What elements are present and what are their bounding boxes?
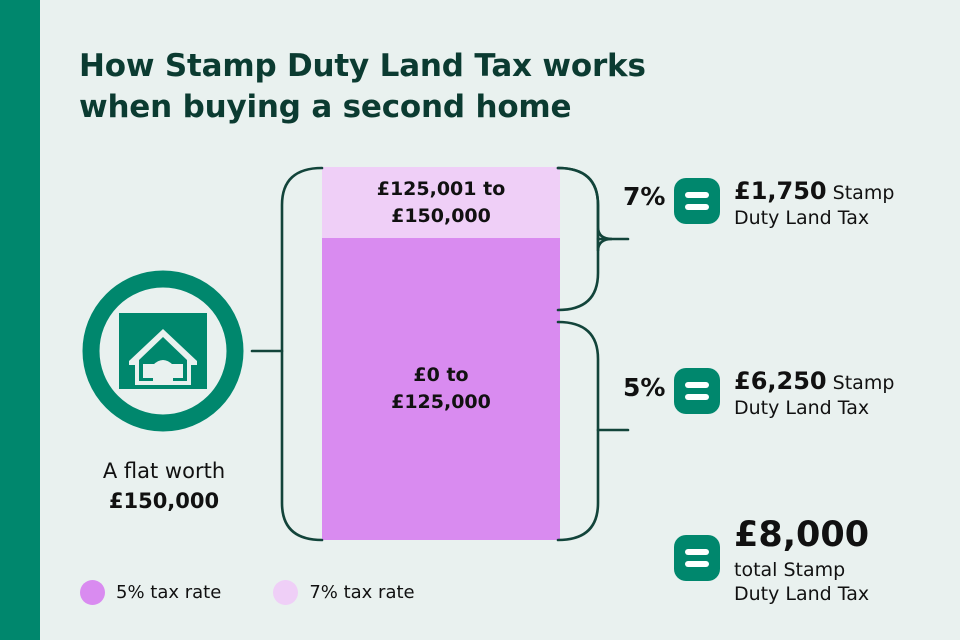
total-tax-amount: £8,000 [734,515,949,555]
equals-bar-top [685,192,709,198]
rate-label-5-percent: 5% [623,373,665,402]
tax-label-upper-line1: Stamp [833,182,895,204]
total-tax-label-line1: total Stamp [734,559,845,581]
tax-band-bar: £125,001 to £150,000 £0 to £125,000 [322,167,560,540]
house-icon [81,269,245,433]
equals-bar-top [685,382,709,388]
property-caption-amount: £150,000 [60,486,268,516]
left-accent-stripe [0,0,40,640]
tax-result-upper: £1,750 Stamp Duty Land Tax [734,179,960,231]
tax-result-lower: £6,250 Stamp Duty Land Tax [734,369,960,421]
equals-icon-lower [674,368,720,414]
equals-bar-bottom [685,561,709,567]
legend-item-7-percent: 7% tax rate [273,580,414,605]
legend-label-7-percent: 7% tax rate [309,582,414,603]
legend: 5% tax rate 7% tax rate [80,580,467,605]
total-tax-label: total Stamp Duty Land Tax [734,558,949,606]
tax-label-upper-line2: Duty Land Tax [734,207,869,229]
property-caption: A flat worth £150,000 [60,456,268,516]
page-title: How Stamp Duty Land Tax works when buyin… [79,46,739,128]
equals-bar-top [685,549,709,555]
legend-swatch-5-percent [80,580,105,605]
tax-amount-upper: £1,750 [734,177,827,205]
equals-bar-bottom [685,204,709,210]
legend-label-5-percent: 5% tax rate [116,582,221,603]
infographic-canvas: How Stamp Duty Land Tax works when buyin… [0,0,960,640]
rate-label-7-percent: 7% [623,182,665,211]
total-tax-label-line2: Duty Land Tax [734,583,869,605]
total-tax-block: £8,000 total Stamp Duty Land Tax [734,515,949,606]
house-circle [81,269,245,433]
band-lower-range-line2: £125,000 [391,391,491,413]
band-upper-7-percent: £125,001 to £150,000 [322,167,560,238]
tax-amount-lower: £6,250 [734,367,827,395]
band-lower-range-line1: £0 to [413,364,468,386]
band-lower-5-percent: £0 to £125,000 [322,238,560,540]
legend-swatch-7-percent [273,580,298,605]
equals-icon-total [674,535,720,581]
equals-bar-bottom [685,394,709,400]
legend-item-5-percent: 5% tax rate [80,580,221,605]
band-upper-range-line1: £125,001 to [377,178,506,200]
tax-label-lower-line1: Stamp [833,372,895,394]
equals-icon-upper [674,178,720,224]
tax-label-lower-line2: Duty Land Tax [734,397,869,419]
property-caption-line1: A flat worth [103,459,225,483]
band-upper-range-line2: £150,000 [391,205,491,227]
